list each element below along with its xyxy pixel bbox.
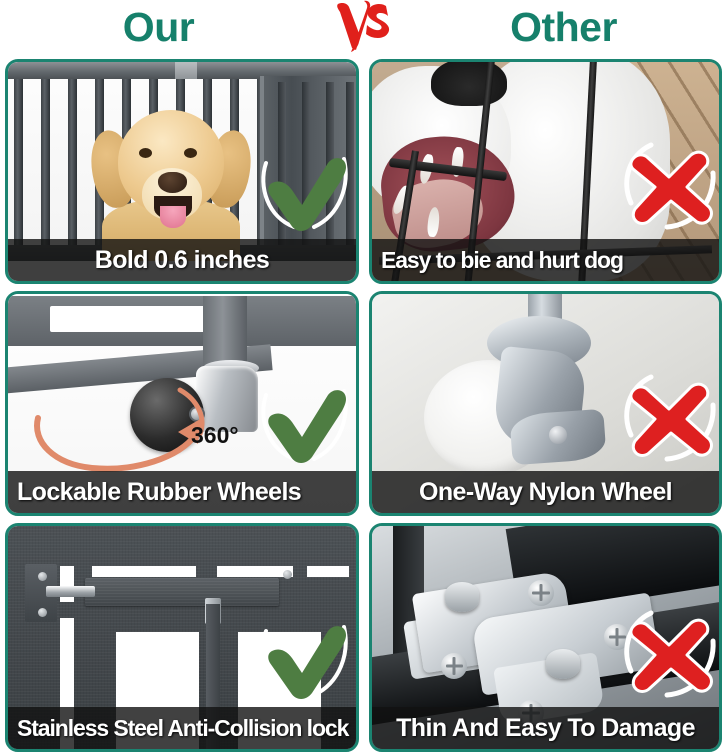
panel-other-bar-thickness[interactable]: Easy to bie and hurt dog xyxy=(369,59,722,284)
latch-knob xyxy=(445,582,479,612)
caption-other-lock: Thin And Easy To Damage xyxy=(372,707,719,749)
panel-other-lock[interactable]: Thin And Easy To Damage xyxy=(369,523,722,752)
cell-our-lock: Stainless Steel Anti-Collision lock xyxy=(0,519,364,755)
comparison-grid: Bold 0.6 inches xyxy=(0,55,727,755)
cell-other-wheels: One-Way Nylon Wheel xyxy=(364,287,727,519)
caption-our-lock: Stainless Steel Anti-Collision lock xyxy=(8,707,356,749)
panel-our-bar-thickness[interactable]: Bold 0.6 inches xyxy=(5,59,359,284)
comparison-infographic: Our Other xyxy=(0,0,727,755)
rotation-degree-label: 360° xyxy=(191,422,239,449)
panel-our-wheels[interactable]: 360° Lockable Rubber Wheels xyxy=(5,291,359,516)
screw-icon xyxy=(528,580,554,606)
cell-other-lock: Thin And Easy To Damage xyxy=(364,519,727,755)
panel-other-wheels[interactable]: One-Way Nylon Wheel xyxy=(369,291,722,516)
latch-knob xyxy=(546,649,580,679)
panel-our-lock[interactable]: Stainless Steel Anti-Collision lock xyxy=(5,523,359,752)
caption-other-wheels: One-Way Nylon Wheel xyxy=(372,471,719,513)
cell-our-wheels: 360° Lockable Rubber Wheels xyxy=(0,287,364,519)
caption-other-bar-thickness: Easy to bie and hurt dog xyxy=(372,239,719,281)
steel-bolt xyxy=(46,586,95,597)
header-title-other: Other xyxy=(404,7,704,48)
vs-icon xyxy=(334,0,396,56)
cell-other-bar-thickness: Easy to bie and hurt dog xyxy=(364,55,727,287)
header: Our Other xyxy=(0,0,727,55)
header-title-our: Our xyxy=(24,7,324,48)
vs-badge xyxy=(324,0,404,55)
caption-our-wheels: Lockable Rubber Wheels xyxy=(8,471,356,513)
caption-our-bar-thickness: Bold 0.6 inches xyxy=(8,239,356,281)
sliding-bolt-latch xyxy=(85,578,280,606)
cell-our-bar-thickness: Bold 0.6 inches xyxy=(0,55,364,287)
golden-retriever xyxy=(96,96,246,261)
cage-door-panel xyxy=(260,76,356,261)
